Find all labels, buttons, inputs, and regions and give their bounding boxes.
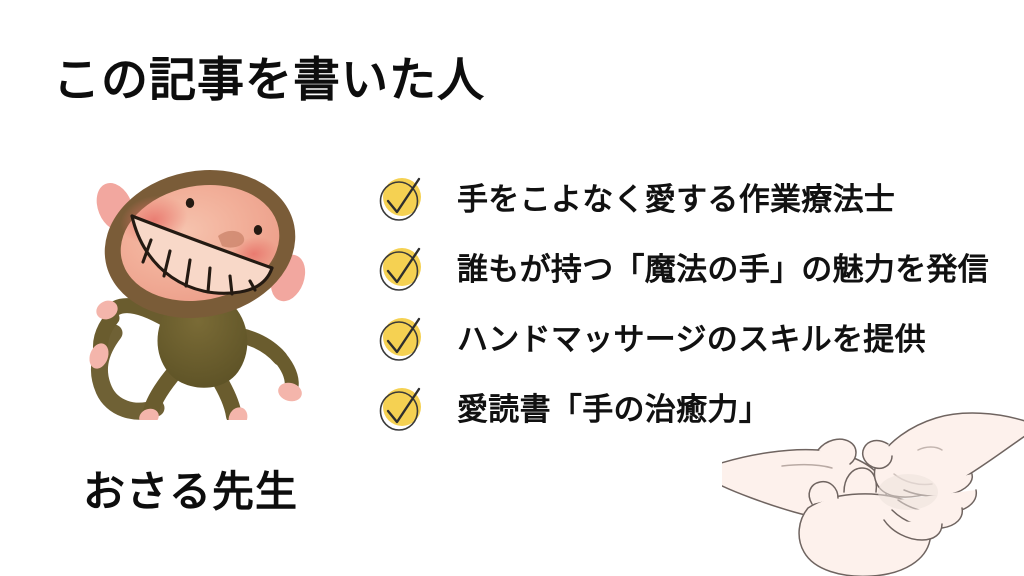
slide-canvas: この記事を書いた人 xyxy=(0,0,1024,576)
check-circle-icon xyxy=(377,176,425,223)
monkey-eye-left xyxy=(186,198,194,208)
check-circle-icon xyxy=(377,246,425,293)
page-title: この記事を書いた人 xyxy=(53,54,485,106)
hand-massage-illustration xyxy=(722,388,1024,576)
check-circle-icon xyxy=(377,386,425,433)
list-item-label: ハンドマッサージのスキルを提供 xyxy=(457,324,926,355)
monkey-illustration xyxy=(72,158,320,420)
check-circle-icon xyxy=(377,316,425,363)
list-item-label: 手をこよなく愛する作業療法士 xyxy=(457,184,895,215)
monkey-eye-right xyxy=(254,225,262,235)
avatar-caption: おさる先生 xyxy=(83,458,298,519)
list-item: 誰もが持つ「魔法の手」の魅力を発信 xyxy=(377,246,1024,293)
list-item-label: 誰もが持つ「魔法の手」の魅力を発信 xyxy=(457,254,989,285)
list-item: 手をこよなく愛する作業療法士 xyxy=(377,176,1024,223)
list-item: ハンドマッサージのスキルを提供 xyxy=(377,316,1024,363)
